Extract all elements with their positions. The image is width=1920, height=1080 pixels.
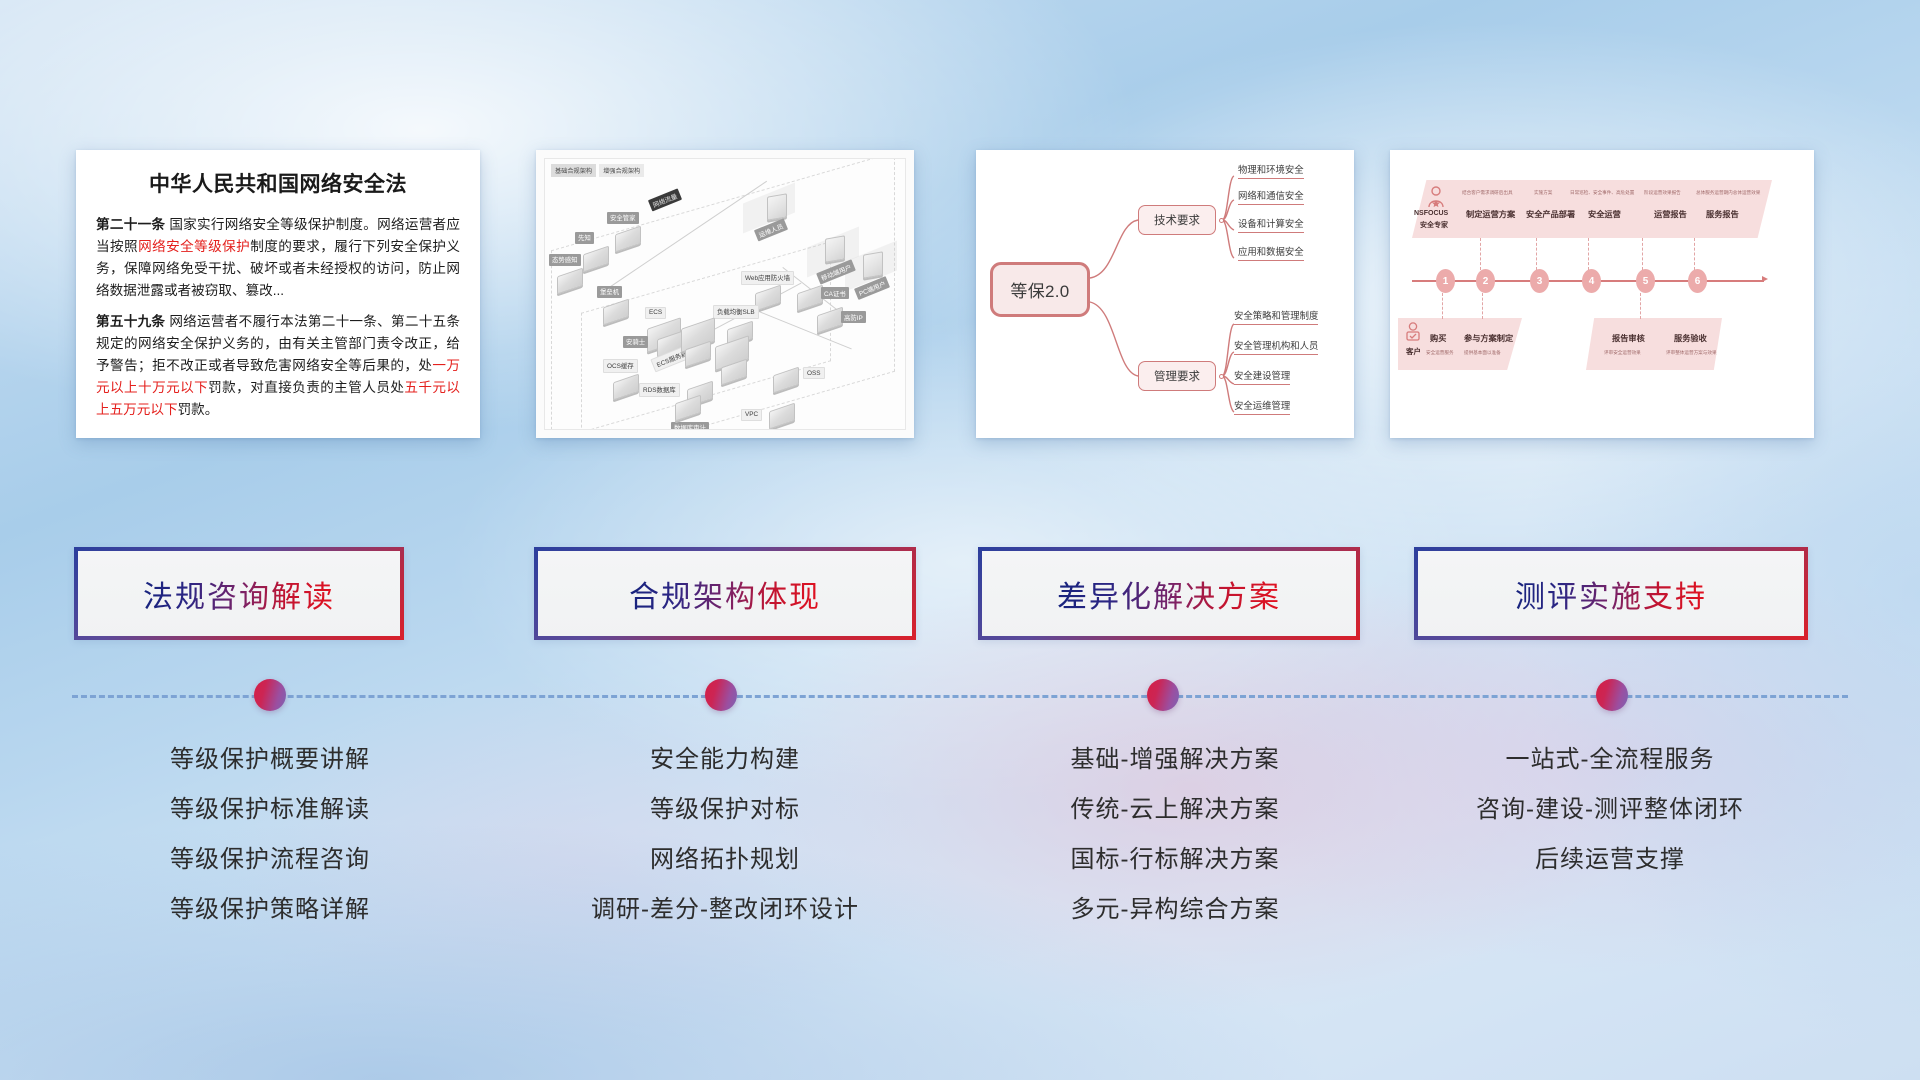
mindmap-leaf[interactable]: 网络和通信安全 xyxy=(1238,188,1304,205)
list-item: 一站式-全流程服务 xyxy=(1400,735,1820,785)
bottom-item-sub: 评审整体运营方案与效果 xyxy=(1666,350,1717,356)
list-item: 等级保护策略详解 xyxy=(60,885,480,935)
list-item: 等级保护标准解读 xyxy=(60,785,480,835)
list-item: 多元-异构综合方案 xyxy=(975,885,1375,935)
timeline-dot-3[interactable] xyxy=(1147,679,1179,711)
list-item: 调研-差分-整改闭环设计 xyxy=(500,885,950,935)
thumbnail-card-architecture[interactable]: 基础合规架构 增强合规架构 xyxy=(536,150,914,438)
top-item-title: 制定运营方案 xyxy=(1466,208,1515,220)
bottom-item-title: 购买 xyxy=(1430,332,1446,344)
node-label: 堡垒机 xyxy=(597,286,622,298)
node-label: OSS xyxy=(803,367,825,379)
top-item-sub: 结合客户需求调研后出具 xyxy=(1462,190,1513,196)
law-run: 罚款。 xyxy=(178,402,219,417)
node-label: ECS xyxy=(645,307,666,319)
list-assessment-support: 一站式-全流程服务 咨询-建设-测评整体闭环 后续运营支撑 xyxy=(1400,735,1820,885)
security-expert-icon xyxy=(1426,186,1446,208)
timeline-dot-2[interactable] xyxy=(705,679,737,711)
list-item: 等级保护流程咨询 xyxy=(60,835,480,885)
service-dash-connector xyxy=(1536,238,1537,270)
service-step-node[interactable]: 3 xyxy=(1530,269,1549,293)
thumbnail-card-service-flow[interactable]: NSFOCUS 安全专家 客户 结合客户需求调研后出具 制定运营方案 实施方案 … xyxy=(1390,150,1814,438)
service-dash-connector xyxy=(1480,238,1481,270)
mindmap-leaf[interactable]: 设备和计算安全 xyxy=(1238,216,1304,233)
node-network-traffic: 网络流量 xyxy=(649,189,681,207)
node-ops-staff: 运维人员 xyxy=(755,195,787,237)
tbox-label: 合规架构体现 xyxy=(629,572,821,616)
service-dash-connector xyxy=(1588,238,1589,270)
mindmap-leaf[interactable]: 应用和数据安全 xyxy=(1238,244,1304,261)
node-label: 负载均衡SLB xyxy=(713,305,759,319)
node-label: 安骑士 xyxy=(623,336,648,348)
law-paragraph-59: 第五十九条 网络运营者不履行本法第二十一条、第二十五条规定的网络安全保护义务的，… xyxy=(96,311,460,421)
top-item-title: 安全产品部署 xyxy=(1526,208,1575,220)
service-dash-connector xyxy=(1482,293,1483,319)
list-item: 基础-增强解决方案 xyxy=(975,735,1375,785)
list-item: 等级保护对标 xyxy=(500,785,950,835)
service-dash-connector xyxy=(1642,238,1643,270)
node-database-audit: 数据库审计 xyxy=(671,399,709,430)
mindmap-root-node[interactable]: 等保2.0 xyxy=(990,262,1090,317)
mindmap-leaf[interactable]: 物理和环境安全 xyxy=(1238,162,1304,179)
tbox-differentiated-solution[interactable]: 差异化解决方案 xyxy=(978,547,1360,640)
law-paragraph-21: 第二十一条 国家实行网络安全等级保护制度。网络运营者应当按照网络安全等级保护制度… xyxy=(96,214,460,302)
node-bastion-host: 堡垒机 xyxy=(597,281,629,321)
service-step-node[interactable]: 4 xyxy=(1582,269,1601,293)
node-security-butler: 安全管家 xyxy=(607,207,641,248)
list-item: 国标-行标解决方案 xyxy=(975,835,1375,885)
service-dash-connector xyxy=(1694,238,1695,270)
node-label: 数据库审计 xyxy=(671,422,709,431)
list-differentiated-solution: 基础-增强解决方案 传统-云上解决方案 国标-行标解决方案 多元-异构综合方案 xyxy=(975,735,1375,935)
tbox-assessment-support[interactable]: 测评实施支持 xyxy=(1414,547,1808,640)
mindmap-leaf[interactable]: 安全运维管理 xyxy=(1234,398,1290,415)
node-label: 先知 xyxy=(575,232,594,244)
top-item-title: 服务报告 xyxy=(1706,208,1739,220)
node-shape xyxy=(863,251,883,279)
service-step-node[interactable]: 1 xyxy=(1436,269,1455,293)
law-article-number-59: 第五十九条 xyxy=(96,314,165,329)
tbox-compliance-architecture[interactable]: 合规架构体现 xyxy=(534,547,916,640)
top-item-title: 运营报告 xyxy=(1654,208,1687,220)
top-item-sub: 实施方案 xyxy=(1534,190,1552,196)
service-axis-arrow xyxy=(1762,276,1768,282)
node-label: 安全管家 xyxy=(607,212,639,224)
service-dash-connector xyxy=(1442,293,1443,319)
list-regulation-consulting: 等级保护概要讲解 等级保护标准解读 等级保护流程咨询 等级保护策略详解 xyxy=(60,735,480,935)
bottom-item-sub: 提供基本面以准备 xyxy=(1464,350,1501,356)
tab-basic-architecture[interactable]: 基础合规架构 xyxy=(551,164,596,177)
thumbnail-card-law[interactable]: 中华人民共和国网络安全法 第二十一条 国家实行网络安全等级保护制度。网络运营者应… xyxy=(76,150,480,438)
thumbnail-row: 中华人民共和国网络安全法 第二十一条 国家实行网络安全等级保护制度。网络运营者应… xyxy=(0,150,1920,445)
node-label: Web应用防火墙 xyxy=(741,271,794,285)
mindmap-diagram: 等保2.0 技术要求 管理要求 物理和环境安全 网络和通信安全 设备和计算安全 … xyxy=(976,150,1354,438)
service-band-bottom-right xyxy=(1586,318,1722,370)
node-oss: OSS xyxy=(773,371,799,389)
top-item-sub: 日常巡检、安全事件、高危处置 xyxy=(1570,190,1634,196)
architecture-canvas: 基础合规架构 增强合规架构 xyxy=(544,158,906,430)
mindmap-leaf[interactable]: 安全建设管理 xyxy=(1234,368,1290,385)
timeline-dot-1[interactable] xyxy=(254,679,286,711)
tbox-label: 测评实施支持 xyxy=(1515,572,1707,616)
node-label: 网络流量 xyxy=(648,188,682,211)
bottom-item-title: 报告审核 xyxy=(1612,332,1645,344)
list-compliance-architecture: 安全能力构建 等级保护对标 网络拓扑规划 调研-差分-整改闭环设计 xyxy=(500,735,950,935)
bottom-item-sub: 评审安全运营效果 xyxy=(1604,350,1641,356)
node-anti-ddos-ip: 高防IP xyxy=(817,311,843,329)
list-item: 咨询-建设-测评整体闭环 xyxy=(1400,785,1820,835)
architecture-diagram: 基础合规架构 增强合规架构 xyxy=(536,150,914,438)
node-vpc: VPC xyxy=(741,403,795,425)
list-item: 安全能力构建 xyxy=(500,735,950,785)
node-shape xyxy=(769,403,795,430)
timeline-dot-4[interactable] xyxy=(1596,679,1628,711)
node-slb: 负载均衡SLB xyxy=(713,301,759,343)
top-item-sub: 总体服务运营期内总体运营效果 xyxy=(1696,190,1760,196)
list-item: 网络拓扑规划 xyxy=(500,835,950,885)
node-shape xyxy=(825,235,845,263)
service-step-node[interactable]: 2 xyxy=(1476,269,1495,293)
top-item-sub: 阶段运营效果报告 xyxy=(1644,190,1681,196)
bottom-item-title: 参与方案制定 xyxy=(1464,332,1513,344)
node-mobile-user: 移动端用户 xyxy=(817,237,855,279)
bottom-item-sub: 安全运营服务 xyxy=(1426,350,1454,356)
tab-enhanced-architecture[interactable]: 增强合规架构 xyxy=(599,164,644,177)
title-box-row: 法规咨询解读 合规架构体现 差异化解决方案 测评实施支持 xyxy=(0,547,1920,647)
customer-icon xyxy=(1404,322,1422,342)
list-item: 传统-云上解决方案 xyxy=(975,785,1375,835)
mindmap-leaf[interactable]: 安全管理机构和人员 xyxy=(1234,338,1318,355)
tbox-regulation-consulting[interactable]: 法规咨询解读 xyxy=(74,547,404,640)
tbox-label: 法规咨询解读 xyxy=(143,572,335,616)
bottom-item-title: 服务验收 xyxy=(1674,332,1707,344)
node-situational-awareness: 态势感知 xyxy=(549,249,583,290)
node-label: OCS缓存 xyxy=(603,359,638,373)
list-item: 等级保护概要讲解 xyxy=(60,735,480,785)
law-title: 中华人民共和国网络安全法 xyxy=(96,168,460,198)
node-shape xyxy=(767,193,787,221)
node-label: RDS数据库 xyxy=(639,383,680,397)
service-flow-diagram: NSFOCUS 安全专家 客户 结合客户需求调研后出具 制定运营方案 实施方案 … xyxy=(1390,150,1814,438)
tbox-label: 差异化解决方案 xyxy=(1057,572,1281,616)
timeline-dashed-line xyxy=(72,695,1848,698)
expert-label-line2: 安全专家 xyxy=(1420,220,1448,230)
law-document: 中华人民共和国网络安全法 第二十一条 国家实行网络安全等级保护制度。网络运营者应… xyxy=(76,150,480,438)
service-step-node[interactable]: 6 xyxy=(1688,269,1707,293)
expert-label-line1: NSFOCUS xyxy=(1414,210,1448,217)
node-label: CA证书 xyxy=(821,287,849,299)
top-item-title: 安全运营 xyxy=(1588,208,1621,220)
mindmap-collapse-dot-technical[interactable] xyxy=(1219,218,1224,223)
mindmap-branch-management[interactable]: 管理要求 xyxy=(1138,361,1216,391)
mindmap-collapse-dot-management[interactable] xyxy=(1219,374,1224,379)
node-ocs-cache: OCS缓存 xyxy=(603,355,639,396)
node-label: 态势感知 xyxy=(549,254,581,266)
law-article-number-21: 第二十一条 xyxy=(96,217,165,232)
law-run-red: 网络安全等级保护 xyxy=(138,239,250,254)
law-run: 罚款，对直接负责的主管人员处 xyxy=(208,380,404,395)
architecture-tabs: 基础合规架构 增强合规架构 xyxy=(551,164,644,177)
thumbnail-card-mindmap[interactable]: 等保2.0 技术要求 管理要求 物理和环境安全 网络和通信安全 设备和计算安全 … xyxy=(976,150,1354,438)
node-label: VPC xyxy=(741,409,762,421)
service-step-node[interactable]: 5 xyxy=(1636,269,1655,293)
node-pc-user: PC端用户 xyxy=(855,253,889,295)
customer-label: 客户 xyxy=(1406,346,1421,357)
service-dash-connector xyxy=(1640,293,1641,319)
mindmap-leaf[interactable]: 安全策略和管理制度 xyxy=(1234,308,1318,325)
node-ca-certificate: CA证书 xyxy=(797,289,823,307)
mindmap-branch-technical[interactable]: 技术要求 xyxy=(1138,205,1216,235)
node-label: 高防IP xyxy=(841,311,866,323)
list-item: 后续运营支撑 xyxy=(1400,835,1820,885)
node-shape xyxy=(675,395,701,422)
